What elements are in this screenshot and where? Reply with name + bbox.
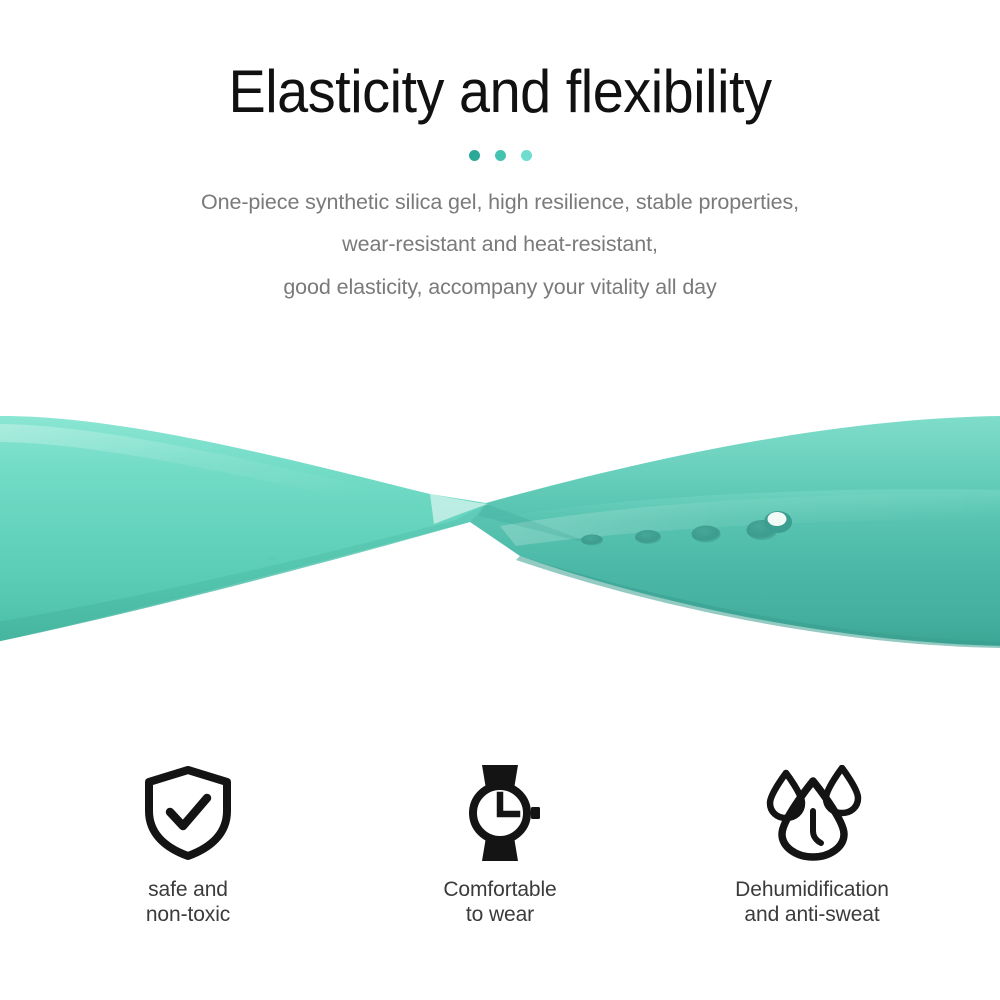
accent-dot-1 xyxy=(469,150,480,161)
band-surface-speck xyxy=(269,556,276,560)
accent-dot-group xyxy=(0,150,1000,162)
shield-check-icon xyxy=(142,762,234,864)
adjustment-hole-2 xyxy=(635,530,661,544)
accent-dot-2 xyxy=(495,150,506,161)
subtitle-line-1: One-piece synthetic silica gel, high res… xyxy=(0,181,1000,224)
feature-label-line-1: Comfortable xyxy=(443,878,556,903)
feature-label-line-2: and anti-sweat xyxy=(735,903,889,928)
wristwatch-icon xyxy=(454,762,546,864)
header: Elasticity and flexibility One-piece syn… xyxy=(0,0,1000,308)
feature-label-line-1: safe and xyxy=(146,878,230,903)
water-drops-icon xyxy=(760,762,864,864)
subtitle-line-2: wear-resistant and heat-resistant, xyxy=(0,223,1000,266)
feature-label-line-1: Dehumidification xyxy=(735,878,889,903)
accent-dot-3 xyxy=(521,150,532,161)
feature-item-dehumidification: Dehumidification and anti-sweat xyxy=(656,762,968,927)
adjustment-hole-3 xyxy=(692,526,721,543)
adjustment-hole-1 xyxy=(581,535,603,546)
feature-item-comfortable-to-wear: Comfortable to wear xyxy=(344,762,656,927)
subtitle-line-3: good elasticity, accompany your vitality… xyxy=(0,266,1000,309)
feature-label-safe-non-toxic: safe and non-toxic xyxy=(146,878,230,927)
product-image-twisted-silicone-band xyxy=(0,370,1000,680)
feature-label-line-2: non-toxic xyxy=(146,903,230,928)
product-feature-page: Elasticity and flexibility One-piece syn… xyxy=(0,0,1000,1000)
subtitle-block: One-piece synthetic silica gel, high res… xyxy=(0,181,1000,309)
feature-list: safe and non-toxic xyxy=(0,762,1000,927)
feature-label-dehumidification: Dehumidification and anti-sweat xyxy=(735,878,889,927)
page-title: Elasticity and flexibility xyxy=(35,0,965,128)
feature-label-comfortable-to-wear: Comfortable to wear xyxy=(443,878,556,927)
band-left-front xyxy=(0,416,486,642)
feature-item-safe-non-toxic: safe and non-toxic xyxy=(32,762,344,927)
adjustment-hole-5 xyxy=(764,511,792,533)
feature-label-line-2: to wear xyxy=(443,903,556,928)
